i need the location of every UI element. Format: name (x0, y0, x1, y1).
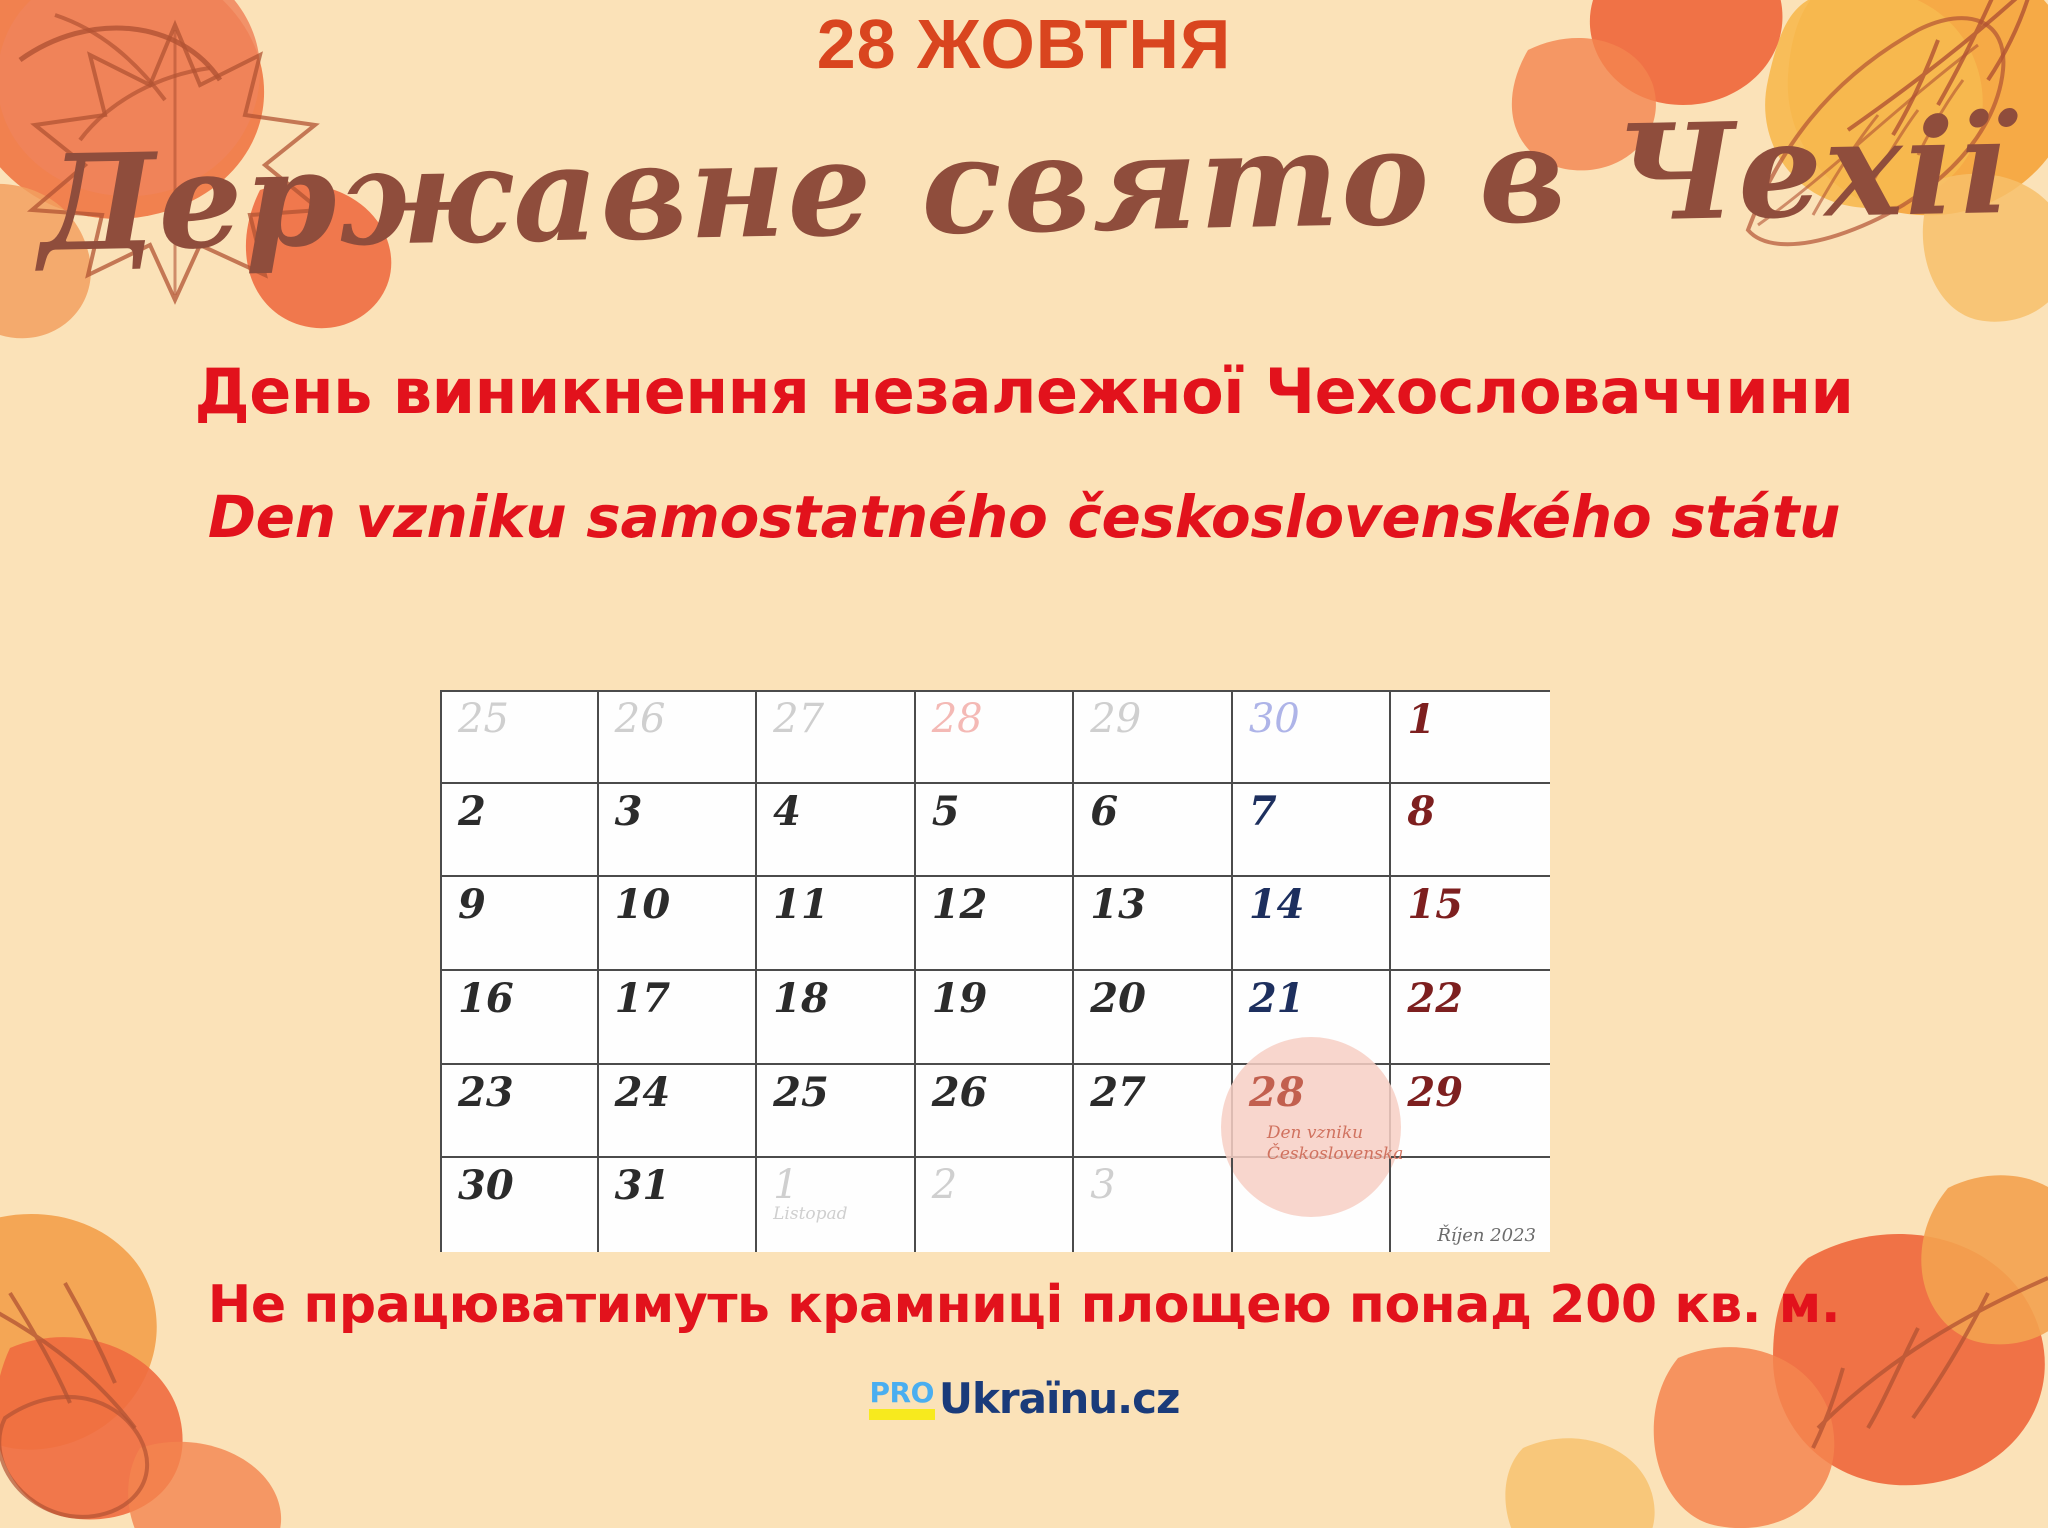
calendar-cell: 2 (440, 784, 599, 878)
calendar-day-number: 1 (1407, 696, 1435, 743)
calendar-day-number: 30 (458, 1162, 514, 1209)
calendar-month-label: Říjen 2023 (1437, 1225, 1536, 1246)
calendar-day-number: 23 (458, 1069, 514, 1116)
calendar-day-number: 15 (1407, 881, 1463, 928)
calendar-day-number: 17 (615, 975, 671, 1022)
calendar-day-number: 29 (1090, 696, 1141, 742)
calendar-cell: 27 (1074, 1065, 1233, 1159)
calendar-cell: 1Listopad (757, 1158, 916, 1252)
calendar-cell: 1 (1391, 690, 1550, 784)
holiday-label: Den vznikuČeskoslovenska (1267, 1123, 1407, 1166)
calendar-day-number: 22 (1407, 975, 1463, 1022)
calendar-cell: 2 (916, 1158, 1075, 1252)
calendar-day-number: 18 (773, 975, 829, 1022)
calendar-day-number: 2 (458, 788, 486, 835)
calendar-day-number: 21 (1249, 975, 1305, 1022)
calendar-cell: 23 (440, 1065, 599, 1159)
calendar-day-number: 29 (1407, 1069, 1463, 1116)
poster-canvas: 28 ЖОВТНЯ Державне свято в Чехії День ви… (0, 0, 2048, 1448)
calendar-cell: 30 (440, 1158, 599, 1252)
calendar-cell: 10 (599, 877, 758, 971)
calendar-cell: 26 (599, 690, 758, 784)
calendar-day-number: 13 (1090, 881, 1146, 928)
calendar-day-number: 8 (1407, 788, 1435, 835)
calendar-day-number: 27 (1090, 1069, 1146, 1116)
calendar-day-number: 16 (458, 975, 514, 1022)
calendar-day-number: 25 (773, 1069, 829, 1116)
date-line: 28 ЖОВТНЯ (0, 4, 2048, 84)
calendar-day-number: 12 (932, 881, 988, 928)
site-logo[interactable]: PRO Ukraїnu.cz (0, 1378, 2048, 1420)
calendar-day-number: 20 (1090, 975, 1146, 1022)
logo-pro-block: PRO (869, 1379, 935, 1420)
calendar-cell: 9 (440, 877, 599, 971)
calendar-day-number: 10 (615, 881, 671, 928)
calendar-grid: 2526272829301234567891011121314151617181… (440, 690, 1550, 1252)
calendar-day-number: 28 (932, 696, 983, 742)
calendar-cell: 6 (1074, 784, 1233, 878)
calendar-cell: 16 (440, 971, 599, 1065)
heading-ukrainian: День виникнення незалежної Чехословаччин… (0, 355, 2048, 428)
calendar-cell: 8 (1391, 784, 1550, 878)
calendar-cell: 15 (1391, 877, 1550, 971)
calendar-cell: 3 (599, 784, 758, 878)
calendar-day-number: 25 (458, 696, 509, 742)
calendar-cell: 14 (1233, 877, 1392, 971)
calendar-day-number: 5 (932, 788, 960, 835)
calendar-day-number: 4 (773, 788, 801, 835)
calendar-day-number: 26 (932, 1069, 988, 1116)
calendar-cell: 13 (1074, 877, 1233, 971)
calendar-day-number: 26 (615, 696, 666, 742)
calendar-cell: 12 (916, 877, 1075, 971)
calendar-cell: 4 (757, 784, 916, 878)
calendar-cell: 29 (1391, 1065, 1550, 1159)
calendar-day-number: 30 (1249, 696, 1300, 742)
calendar-day-number: 7 (1249, 788, 1277, 835)
calendar-cell: 18 (757, 971, 916, 1065)
calendar-cell: 17 (599, 971, 758, 1065)
calendar-day-number: 1 (773, 1162, 798, 1208)
calendar-cell: 31 (599, 1158, 758, 1252)
calendar-day-number: 28 (1249, 1069, 1305, 1116)
calendar-day-number: 3 (615, 788, 643, 835)
calendar-cell: 11 (757, 877, 916, 971)
script-title: Державне свято в Чехії (0, 88, 2048, 282)
calendar-cell: 20 (1074, 971, 1233, 1065)
calendar-cell: 27 (757, 690, 916, 784)
heading-czech: Den vzniku samostatného československého… (150, 480, 1898, 555)
calendar-cell: 22 (1391, 971, 1550, 1065)
calendar-day-number: 2 (932, 1162, 957, 1208)
calendar-cell (1233, 1158, 1392, 1252)
calendar-day-number: 9 (458, 881, 486, 928)
calendar-cell: 3 (1074, 1158, 1233, 1252)
logo-domain-text: Ukraїnu.cz (939, 1378, 1180, 1420)
calendar-cell: 25 (440, 690, 599, 784)
calendar-day-number: 31 (615, 1162, 671, 1209)
calendar-cell: 28Den vznikuČeskoslovenska (1233, 1065, 1392, 1159)
calendar-day-number: 19 (932, 975, 988, 1022)
calendar-cell: 29 (1074, 690, 1233, 784)
calendar-day-number: 24 (615, 1069, 671, 1116)
calendar-day-number: 3 (1090, 1162, 1115, 1208)
calendar-image: 2526272829301234567891011121314151617181… (440, 690, 1550, 1252)
calendar-day-number: 27 (773, 696, 824, 742)
calendar-cell: 25 (757, 1065, 916, 1159)
calendar-cell: 28 (916, 690, 1075, 784)
calendar-cell: 30 (1233, 690, 1392, 784)
calendar-day-number: 6 (1090, 788, 1118, 835)
logo-pro-text: PRO (869, 1379, 935, 1407)
calendar-day-number: 11 (773, 881, 829, 928)
logo-yellow-bar (869, 1409, 935, 1420)
calendar-day-number: 14 (1249, 881, 1305, 928)
bottom-note: Не працюватимуть крамниці площею понад 2… (0, 1275, 2048, 1335)
calendar-cell: 19 (916, 971, 1075, 1065)
calendar-cell: 7 (1233, 784, 1392, 878)
calendar-cell: 24 (599, 1065, 758, 1159)
calendar-cell: 26 (916, 1065, 1075, 1159)
next-month-label: Listopad (773, 1204, 847, 1224)
calendar-cell: 5 (916, 784, 1075, 878)
